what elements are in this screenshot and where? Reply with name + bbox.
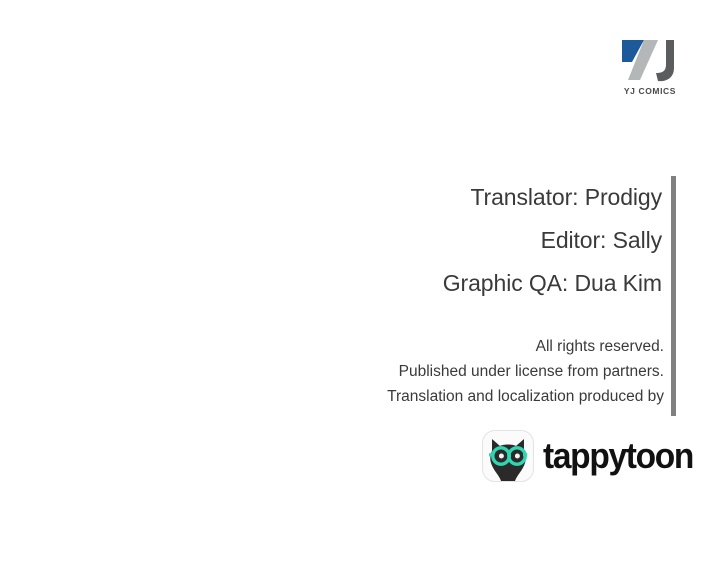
vertical-divider [671, 176, 676, 416]
legal-block: All rights reserved. Published under lic… [204, 334, 664, 409]
credit-editor: Editor: Sally [242, 219, 662, 262]
legal-rights-reserved: All rights reserved. [204, 334, 664, 359]
legal-published-under-license: Published under license from partners. [204, 359, 664, 384]
yj-comics-logo: YJ COMICS [618, 36, 682, 102]
yj-comics-wordmark: YJ COMICS [618, 86, 682, 96]
credits-block: Translator: Prodigy Editor: Sally Graphi… [242, 176, 662, 305]
credit-translator: Translator: Prodigy [242, 176, 662, 219]
tappytoon-cat-mascot-icon [482, 430, 534, 482]
credit-graphic-qa: Graphic QA: Dua Kim [242, 262, 662, 305]
legal-translation-produced-by: Translation and localization produced by [204, 384, 664, 409]
credits-page: YJ COMICS Translator: Prodigy Editor: Sa… [0, 0, 720, 579]
yj-comics-mark-icon [618, 36, 682, 84]
tappytoon-logo: tappytoon [482, 429, 704, 483]
tappytoon-wordmark: tappytoon [543, 438, 693, 474]
